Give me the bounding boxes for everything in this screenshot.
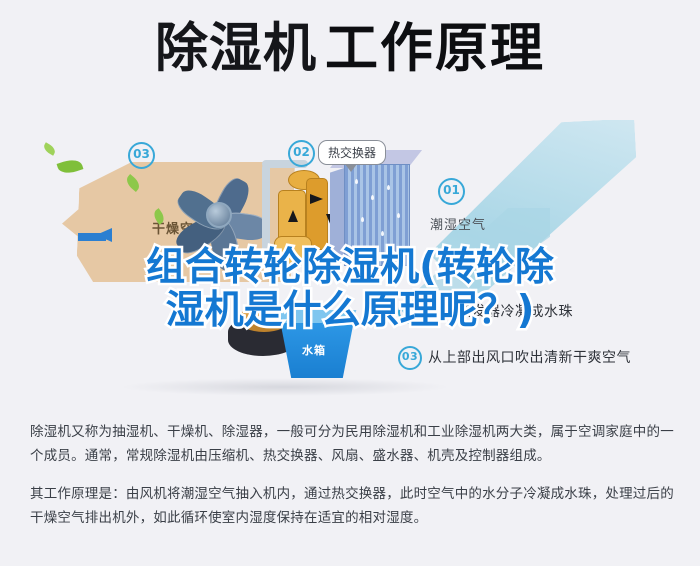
step-line-03: 03从上部出风口吹出清新干爽空气 [398,346,631,370]
leaf-icon [42,142,57,155]
page-title-sub: 工作原理 [325,18,545,79]
page-title: 除湿机工作原理 [0,22,700,75]
step-badge-03: 03 [398,346,422,370]
flow-arrow-right-icon [310,194,323,204]
badge-03: 03 [128,142,155,169]
overlay-headline-line2: 湿机是什么原理呢？) [0,289,700,332]
body-paragraph-2: 其工作原理是：由风机将潮湿空气抽入机内，通过热交换器，此时空气中的水分子冷凝成水… [30,482,676,530]
overlay-headline: 组合转轮除湿机(转轮除 湿机是什么原理呢？) [0,246,700,332]
body-text: 除湿机又称为抽湿机、干燥机、除湿器，一般可分为民用除湿机和工业除湿机两大类，属于… [30,420,676,544]
air-intake-arrow-tail-icon [78,233,106,241]
badge-02: 02 [288,140,315,167]
page-title-main: 除湿机 [155,18,317,79]
poster-root: 除湿机工作原理 干燥空气 [0,0,700,566]
fan-hub-icon [206,202,232,228]
humid-air-label: 潮湿空气 [430,214,486,233]
step-text-03: 从上部出风口吹出清新干爽空气 [428,350,631,366]
badge-01: 01 [438,178,465,205]
body-paragraph-1: 除湿机又称为抽湿机、干燥机、除湿器，一般可分为民用除湿机和工业除湿机两大类，属于… [30,420,676,468]
heat-exchanger-callout: 热交换器 [318,140,386,165]
flow-arrow-up-icon [288,210,298,222]
ground-shadow [120,378,450,396]
leaf-icon [57,157,84,177]
water-tank-label: 水箱 [302,342,326,358]
overlay-headline-line1: 组合转轮除湿机(转轮除 [0,246,700,289]
